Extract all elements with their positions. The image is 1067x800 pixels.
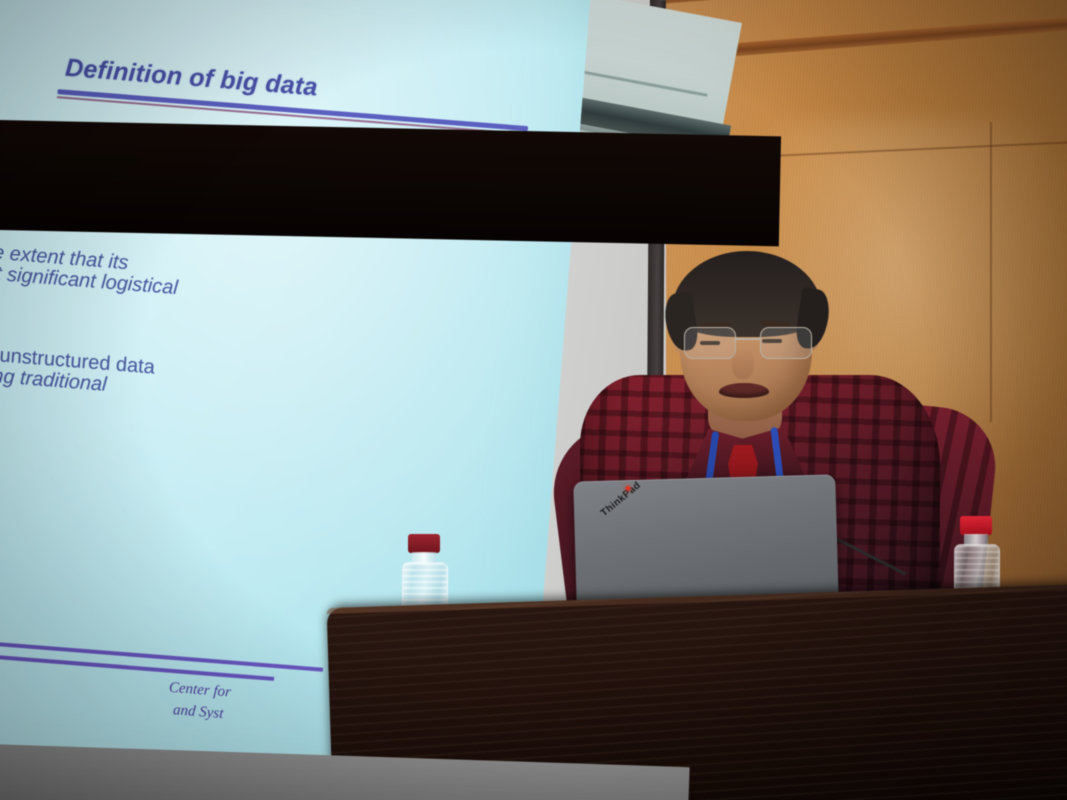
eyeglass-lens-right bbox=[760, 327, 812, 359]
thinkpad-logo-text: ThinkPad bbox=[599, 480, 643, 519]
thinkpad-logo: ThinkPad bbox=[599, 481, 643, 520]
podium-front-panel bbox=[0, 120, 781, 247]
footer-divider-primary bbox=[0, 621, 323, 672]
eyeglass-bridge bbox=[734, 338, 760, 340]
bottle-cap-right bbox=[960, 516, 992, 535]
slide-footer: Center for and Syst bbox=[33, 667, 365, 736]
laptop-lid: ThinkPad bbox=[573, 474, 838, 609]
eyeglass-lens-left bbox=[684, 327, 736, 359]
presentation-photo-scene: Definition of big data umerous definitio… bbox=[0, 0, 1067, 800]
speaker-nose bbox=[732, 347, 754, 379]
wall-panel-seam-vertical bbox=[990, 122, 992, 422]
speaker-mouth bbox=[719, 383, 769, 398]
bottle-cap-left bbox=[408, 534, 440, 553]
